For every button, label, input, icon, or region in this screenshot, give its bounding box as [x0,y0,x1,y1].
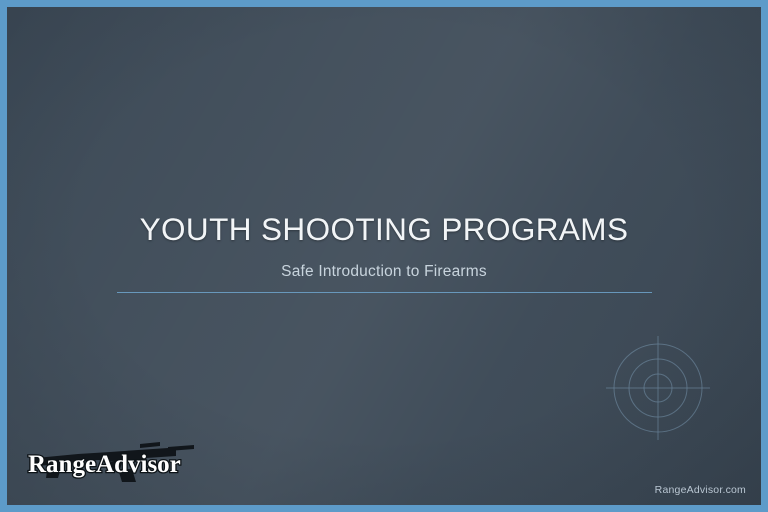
title-divider [117,292,652,293]
logo-wordmark: RangeAdvisor [28,451,181,478]
page-title: YOUTH SHOOTING PROGRAMS [0,212,768,247]
rifle-logo-icon: RangeAdvisor [18,428,198,490]
footer-url: RangeAdvisor.com [655,484,746,496]
crosshair-target-icon [604,334,712,442]
title-block: YOUTH SHOOTING PROGRAMS Safe Introductio… [0,212,768,281]
page-subtitle: Safe Introduction to Firearms [0,263,768,281]
presentation-slide: YOUTH SHOOTING PROGRAMS Safe Introductio… [0,0,768,512]
bottom-accent-bar [0,505,768,512]
top-accent-bar [0,0,768,7]
